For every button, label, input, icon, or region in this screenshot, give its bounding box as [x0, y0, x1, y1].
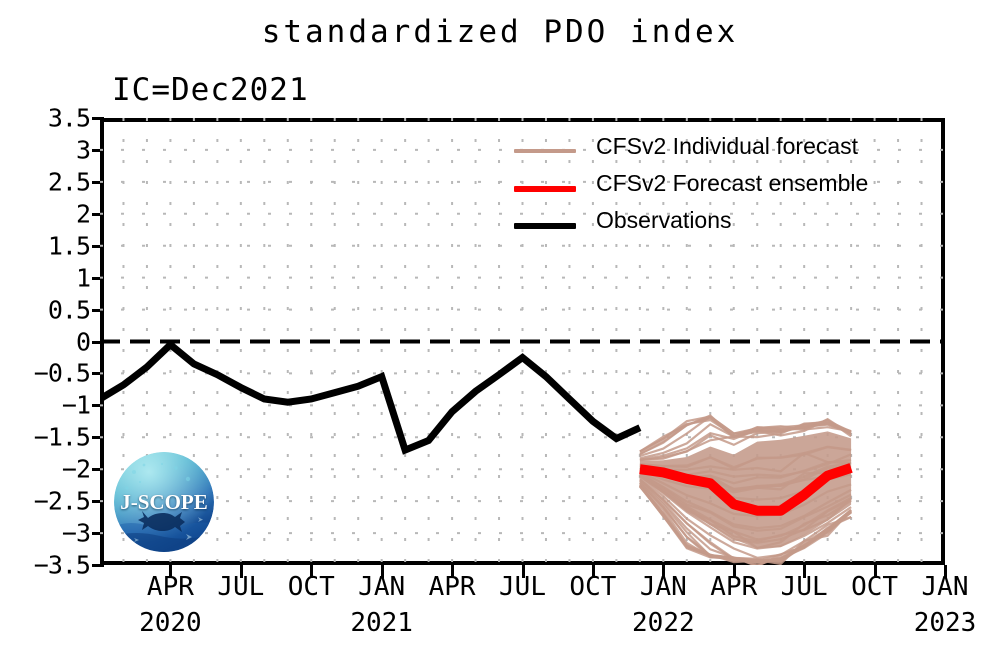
legend-label-observations: Observations [596, 207, 732, 234]
chart-legend: CFSv2 Individual forecast CFSv2 Forecast… [500, 133, 920, 244]
x-axis: APRJULOCTJANAPRJULOCTJANAPRJULOCTJAN2020… [0, 565, 1000, 662]
y-axis-tick-label: 0 [76, 329, 90, 354]
legend-item-forecast-ensemble: CFSv2 Forecast ensemble [500, 170, 920, 207]
initial-condition-label: IC=Dec2021 [112, 72, 309, 108]
legend-item-observations: Observations [500, 207, 920, 244]
x-axis-tick [944, 565, 947, 578]
y-axis-tick-label: −2 [62, 457, 90, 482]
x-axis-tick [310, 565, 313, 578]
y-axis-tick-label: 3.5 [48, 106, 90, 131]
legend-label-individual-forecast: CFSv2 Individual forecast [596, 133, 858, 160]
x-axis-tick [592, 565, 595, 578]
x-axis-tick [240, 565, 243, 578]
y-axis-tick-label: 2 [76, 201, 90, 226]
y-axis-tick-label: −0.5 [34, 361, 90, 386]
x-axis-tick [381, 565, 384, 578]
j-scope-logo: J-SCOPE [114, 452, 214, 552]
x-axis-tick [733, 565, 736, 578]
legend-swatch-individual-forecast [514, 149, 576, 153]
x-axis-tick [451, 565, 454, 578]
y-axis-tick-label: 2.5 [48, 169, 90, 194]
y-axis-tick-label: −1 [62, 393, 90, 418]
x-axis-tick [662, 565, 665, 578]
legend-swatch-observations [514, 223, 576, 229]
y-axis: 3.532.521.510.50−0.5−1−1.5−2−2.5−3−3.5 [0, 118, 100, 565]
x-axis-tick [803, 565, 806, 578]
chart-title: standardized PDO index [0, 14, 1000, 50]
chart-page: standardized PDO index IC=Dec2021 3.532.… [0, 0, 1000, 662]
observations-line [100, 345, 640, 450]
legend-swatch-forecast-ensemble [514, 186, 576, 192]
y-axis-tick-label: 0.5 [48, 297, 90, 322]
x-axis-year-label: 2022 [632, 608, 695, 638]
x-axis-year-label: 2021 [350, 608, 413, 638]
x-axis-tick [169, 565, 172, 578]
y-axis-tick-label: −3 [62, 521, 90, 546]
x-axis-year-label: 2023 [914, 608, 977, 638]
y-axis-tick-label: −2.5 [34, 489, 90, 514]
legend-item-individual-forecast: CFSv2 Individual forecast [500, 133, 920, 170]
y-axis-tick-label: −1.5 [34, 425, 90, 450]
y-axis-tick-label: 3 [76, 137, 90, 162]
legend-label-forecast-ensemble: CFSv2 Forecast ensemble [596, 170, 868, 197]
y-axis-tick-label: 1 [76, 265, 90, 290]
y-axis-tick-label: 1.5 [48, 233, 90, 258]
x-axis-year-label: 2020 [139, 608, 202, 638]
j-scope-logo-text: J-SCOPE [114, 490, 214, 515]
x-axis-tick [874, 565, 877, 578]
x-axis-tick [522, 565, 525, 578]
